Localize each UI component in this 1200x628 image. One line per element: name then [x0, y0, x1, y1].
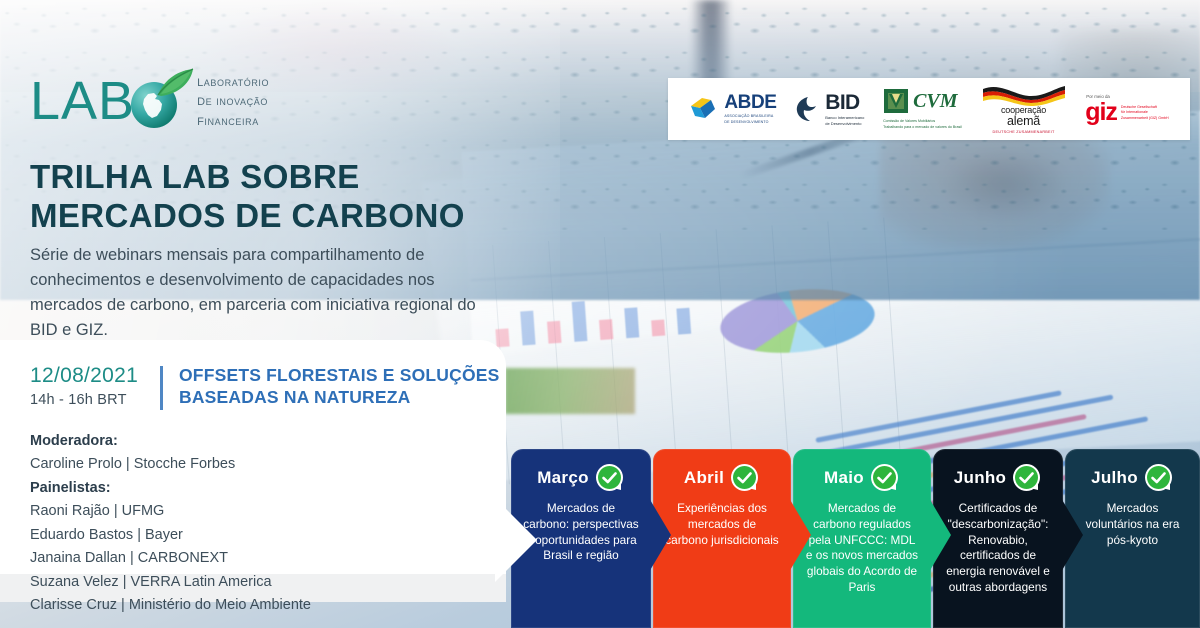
abde-subtitle: ASSOCIAÇÃO BRASILEIRA DE DESENVOLVIMENTO [724, 114, 776, 124]
timeline-card-junho[interactable]: Junho Certificados de "descarbonização":… [933, 449, 1063, 628]
lab-tagline-line-2: de Inovação [197, 91, 269, 110]
german-flag-wave-icon [981, 84, 1067, 106]
timeline-card-header: Abril [665, 463, 779, 493]
timeline-card-description: Experiências dos mercados de carbono jur… [665, 501, 779, 548]
page-title: TRILHA LAB SOBRE MERCADOS DE CARBONO [30, 158, 570, 235]
partner-logo-cvm: CVM Comissão de Valores Mobiliários Trab… [883, 88, 962, 131]
bid-name: BID [825, 92, 864, 113]
green-check-badge-icon [595, 463, 625, 493]
abde-text: ABDE ASSOCIAÇÃO BRASILEIRA DE DESENVOLVI… [724, 93, 776, 124]
vertical-divider [160, 366, 163, 410]
cvm-subtitle: Comissão de Valores Mobiliários Trabalha… [883, 119, 962, 131]
lab-tagline: Laboratório de Inovação Financeira [197, 72, 269, 130]
session-title-line-1: OFFSETS FLORESTAIS E SOLUÇÕES [179, 364, 500, 386]
timeline-card-header: Julho [1077, 463, 1188, 493]
bid-text: BID Banco Interamericano de Desenvolvime… [825, 92, 864, 127]
timeline-month-cards: Março Mercados de carbono: perspectivas … [0, 449, 1200, 628]
hero-description: Série de webinars mensais para compartil… [30, 243, 500, 343]
partner-logo-cooperacao-alema: cooperação alemã DEUTSCHE ZUSAMMENARBEIT [981, 84, 1067, 135]
session-title-line-2: BASEADAS NA NATUREZA [179, 386, 500, 408]
green-check-badge-icon [870, 463, 900, 493]
event-date-column: 12/08/2021 14h - 16h BRT [30, 364, 160, 408]
timeline-month-name: Abril [684, 468, 724, 488]
cvm-name: CVM [913, 91, 957, 111]
timeline-card-header: Março [523, 463, 639, 493]
event-time: 14h - 16h BRT [30, 392, 160, 408]
green-check-badge-icon [730, 463, 760, 493]
timeline-month-name: Junho [954, 468, 1007, 488]
timeline-month-name: Março [537, 468, 589, 488]
cooperacao-line-2: alemã [1007, 115, 1040, 128]
giz-name: giz [1085, 102, 1117, 123]
lab-logo: LAB Laboratório de Inovação Financeira [30, 68, 269, 134]
event-date: 12/08/2021 [30, 364, 160, 388]
timeline-card-julho[interactable]: Julho Mercados voluntários na era pós-ky… [1065, 449, 1200, 628]
timeline-card-description: Mercados de carbono: perspectivas e opor… [523, 501, 639, 564]
partner-logo-abde: ABDE ASSOCIAÇÃO BRASILEIRA DE DESENVOLVI… [689, 93, 776, 124]
webinar-poster: LAB Laboratório de Inovação Financeira [0, 0, 1200, 628]
session-title: OFFSETS FLORESTAIS E SOLUÇÕES BASEADAS N… [179, 364, 500, 409]
timeline-card-description: Mercados voluntários na era pós-kyoto [1077, 501, 1188, 548]
cooperacao-line-3: DEUTSCHE ZUSAMMENARBEIT [993, 130, 1055, 134]
timeline-card-header: Maio [805, 463, 919, 493]
globe-brazil-leaf-icon [129, 72, 187, 130]
timeline-month-name: Julho [1091, 468, 1138, 488]
partner-logo-giz: Por meio da giz Deutsche Gesellschaft fü… [1085, 94, 1168, 123]
leaf-icon [155, 68, 195, 98]
partner-logo-bid: BID Banco Interamericano de Desenvolvime… [795, 92, 864, 127]
abde-name: ABDE [724, 93, 776, 112]
partner-logo-bar: ABDE ASSOCIAÇÃO BRASILEIRA DE DESENVOLVI… [668, 78, 1190, 140]
timeline-card-abril[interactable]: Abril Experiências dos mercados de carbo… [653, 449, 791, 628]
bid-logo-icon [795, 96, 821, 122]
green-check-badge-icon [1012, 463, 1042, 493]
timeline-card-maio[interactable]: Maio Mercados de carbono regulados pela … [793, 449, 931, 628]
timeline-card-description: Certificados de "descarbonização": Renov… [945, 501, 1051, 596]
event-date-row: 12/08/2021 14h - 16h BRT OFFSETS FLOREST… [30, 364, 500, 412]
lab-tagline-line-1: Laboratório [197, 72, 269, 91]
timeline-card-description: Mercados de carbono regulados pela UNFCC… [805, 501, 919, 596]
giz-subtitle: Deutsche Gesellschaft für Internationale… [1121, 105, 1169, 122]
abde-logo-icon [689, 96, 719, 122]
green-check-badge-icon [1144, 463, 1174, 493]
lab-tagline-line-3: Financeira [197, 111, 269, 130]
timeline-card-header: Junho [945, 463, 1051, 493]
timeline-month-name: Maio [824, 468, 864, 488]
lab-wordmark: LAB [30, 74, 135, 128]
page-title-line-2: MERCADOS DE CARBONO [30, 197, 570, 236]
cvm-logo-icon [883, 88, 909, 114]
bid-subtitle: Banco Interamericano de Desenvolvimento [825, 115, 864, 127]
page-title-line-1: TRILHA LAB SOBRE [30, 158, 570, 197]
